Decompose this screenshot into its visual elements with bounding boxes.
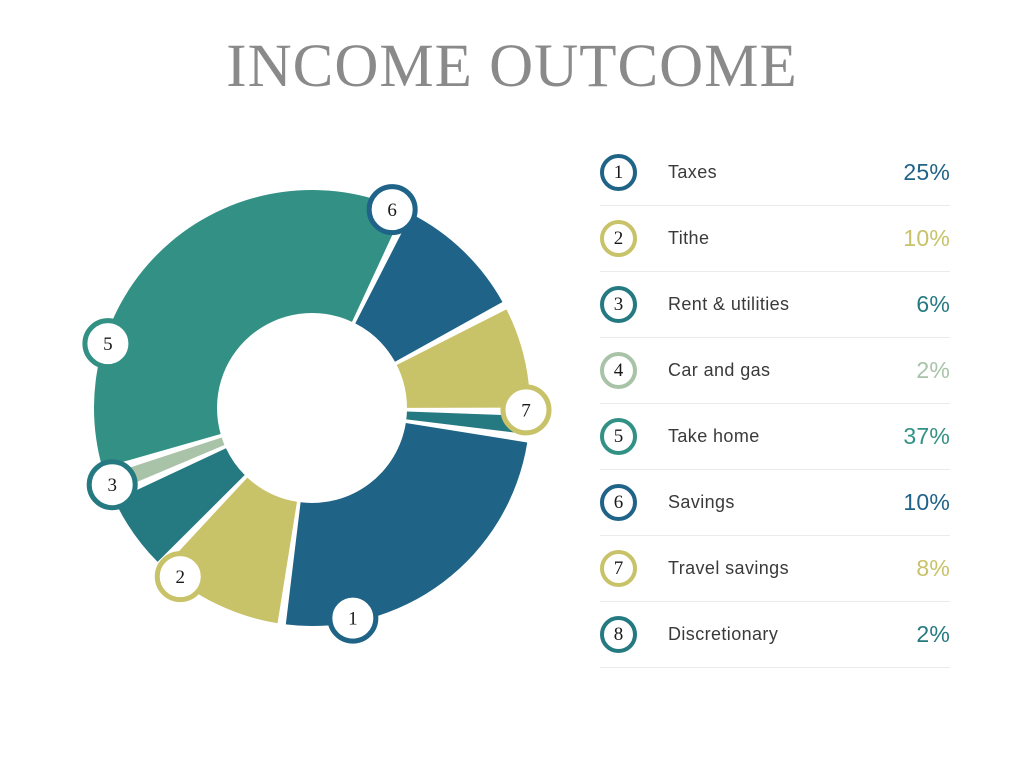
legend-label-4: Car and gas [637, 360, 916, 381]
legend-label-2: Tithe [637, 228, 903, 249]
donut-marker-2[interactable]: 2 [157, 554, 203, 600]
legend-number-badge-5: 5 [600, 418, 637, 455]
legend-row-3[interactable]: 3Rent & utilities6% [600, 272, 950, 338]
donut-marker-label-5: 5 [103, 334, 113, 355]
legend-label-7: Travel savings [637, 558, 916, 579]
legend-label-3: Rent & utilities [637, 294, 916, 315]
legend-value-3: 6% [916, 291, 950, 318]
donut-chart: 123567 [60, 150, 580, 670]
legend-row-8[interactable]: 8Discretionary2% [600, 602, 950, 668]
page-title: INCOME OUTCOME [0, 32, 1024, 102]
legend-number-badge-1: 1 [600, 154, 637, 191]
donut-slice-layer [94, 190, 530, 626]
legend-number-badge-2: 2 [600, 220, 637, 257]
legend-number-4: 4 [614, 361, 624, 380]
donut-marker-label-7: 7 [521, 400, 531, 421]
donut-marker-label-1: 1 [348, 609, 358, 630]
legend-row-5[interactable]: 5Take home37% [600, 404, 950, 470]
legend-number-8: 8 [614, 625, 624, 644]
legend-label-5: Take home [637, 426, 903, 447]
legend-number-6: 6 [614, 493, 624, 512]
legend-row-2[interactable]: 2Tithe10% [600, 206, 950, 272]
legend-number-7: 7 [614, 559, 624, 578]
legend-value-7: 8% [916, 555, 950, 582]
legend-value-8: 2% [916, 621, 950, 648]
donut-marker-1[interactable]: 1 [330, 595, 376, 641]
donut-marker-label-3: 3 [107, 475, 117, 496]
donut-marker-5[interactable]: 5 [85, 321, 131, 367]
legend-number-2: 2 [614, 229, 624, 248]
legend-row-4[interactable]: 4Car and gas2% [600, 338, 950, 404]
legend-row-1[interactable]: 1Taxes25% [600, 140, 950, 206]
legend-label-8: Discretionary [637, 624, 916, 645]
donut-marker-label-6: 6 [387, 200, 397, 221]
legend-number-3: 3 [614, 295, 624, 314]
donut-slice-5[interactable] [94, 190, 404, 468]
donut-marker-label-2: 2 [175, 567, 185, 588]
legend-value-2: 10% [903, 225, 950, 252]
legend-label-1: Taxes [637, 162, 903, 183]
legend-number-badge-6: 6 [600, 484, 637, 521]
legend-number-5: 5 [614, 427, 624, 446]
legend-row-6[interactable]: 6Savings10% [600, 470, 950, 536]
legend-number-badge-3: 3 [600, 286, 637, 323]
legend-number-badge-4: 4 [600, 352, 637, 389]
legend-value-6: 10% [903, 489, 950, 516]
legend-value-1: 25% [903, 159, 950, 186]
legend-value-5: 37% [903, 423, 950, 450]
donut-chart-svg: 123567 [60, 150, 580, 670]
legend-number-badge-7: 7 [600, 550, 637, 587]
donut-slice-1[interactable] [286, 423, 527, 626]
legend-row-7[interactable]: 7Travel savings8% [600, 536, 950, 602]
legend-number-badge-8: 8 [600, 616, 637, 653]
donut-marker-6[interactable]: 6 [369, 187, 415, 233]
legend-label-6: Savings [637, 492, 903, 513]
donut-marker-7[interactable]: 7 [503, 387, 549, 433]
legend-value-4: 2% [916, 357, 950, 384]
legend-number-1: 1 [614, 163, 624, 182]
donut-marker-3[interactable]: 3 [89, 462, 135, 508]
legend-list: 1Taxes25%2Tithe10%3Rent & utilities6%4Ca… [600, 140, 950, 668]
